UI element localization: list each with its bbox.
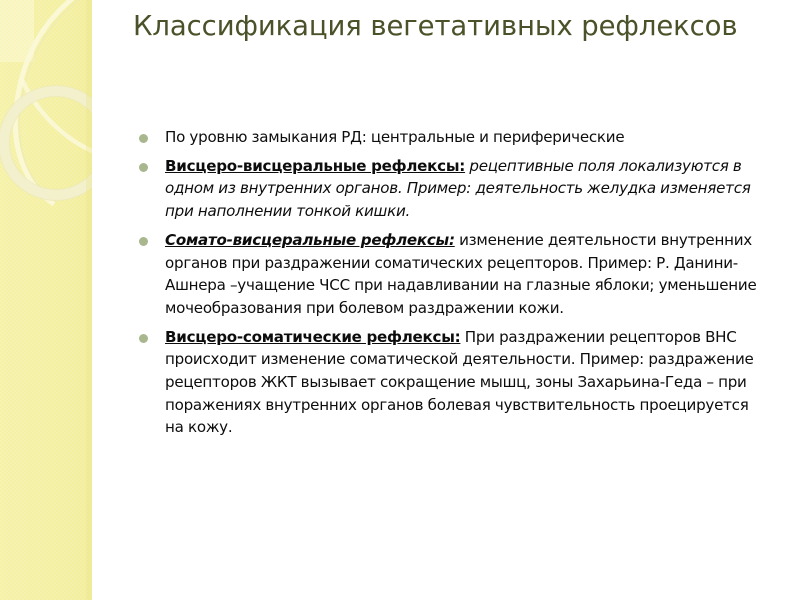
slide-body: По уровню замыкания РД: центральные и пе…	[136, 126, 766, 439]
bullet-item: Висцеро-соматические рефлексы: При раздр…	[136, 326, 766, 440]
bullet-paragraph: По уровню замыкания РД: центральные и пе…	[165, 126, 766, 149]
bullet-dot-icon	[139, 134, 148, 143]
bullet-body-text: По уровню замыкания РД: центральные и пе…	[165, 128, 624, 146]
bullet-lead-term: Висцеро-висцеральные рефлексы:	[165, 157, 465, 175]
bullet-dot-icon	[139, 334, 148, 343]
bullet-paragraph: Висцеро-висцеральные рефлексы: рецептивн…	[165, 155, 766, 223]
decorative-sidebar-band	[0, 0, 92, 600]
bullet-item: Висцеро-висцеральные рефлексы: рецептивн…	[136, 155, 766, 223]
bullet-paragraph: Висцеро-соматические рефлексы: При раздр…	[165, 326, 766, 440]
slide-title: Классификация вегетативных рефлексов	[133, 8, 753, 45]
presentation-slide: Классификация вегетативных рефлексов По …	[0, 0, 800, 600]
bullet-dot-icon	[139, 237, 148, 246]
bullet-lead-term: Висцеро-соматические рефлексы:	[165, 328, 460, 346]
bullet-item: Сомато-висцеральные рефлексы: изменение …	[136, 229, 766, 320]
decorative-rings-graphic	[0, 0, 92, 600]
bullet-lead-term: Сомато-висцеральные рефлексы:	[165, 231, 455, 249]
bullet-item: По уровню замыкания РД: центральные и пе…	[136, 126, 766, 149]
bullet-dot-icon	[139, 163, 148, 172]
bullet-paragraph: Сомато-висцеральные рефлексы: изменение …	[165, 229, 766, 320]
